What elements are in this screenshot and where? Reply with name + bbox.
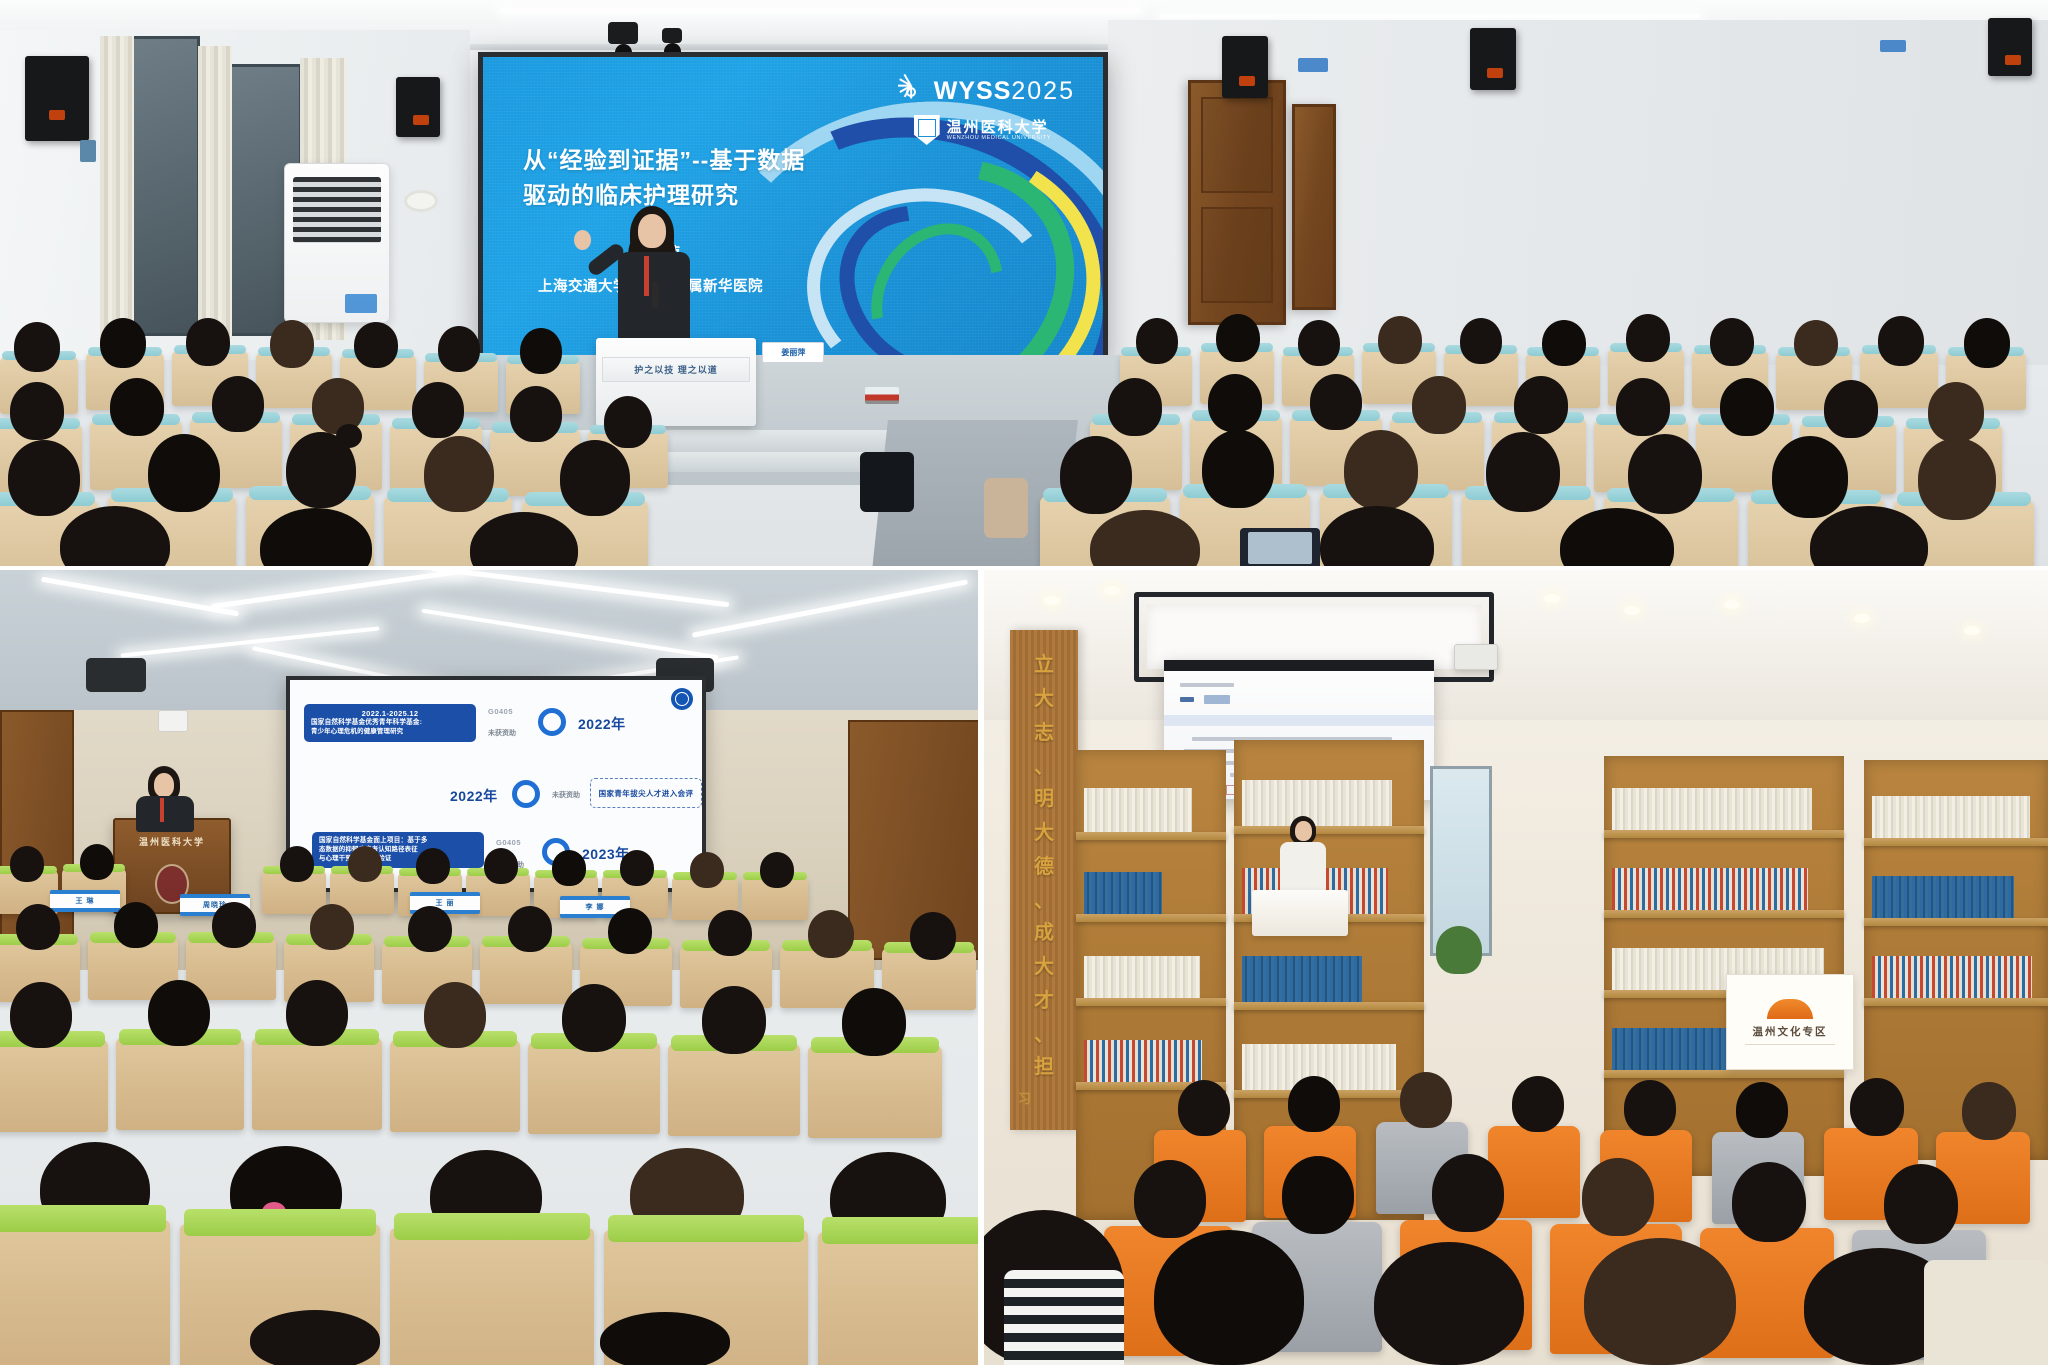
audience-head (760, 852, 794, 888)
audience-head (286, 980, 348, 1046)
seat (668, 1044, 800, 1136)
wall-fixture (404, 190, 438, 212)
audience-head (110, 378, 164, 436)
wooden-door (1188, 80, 1286, 325)
wooden-door-side (1292, 104, 1336, 310)
motto-char: 才 (1010, 984, 1078, 1013)
books (1242, 956, 1362, 1002)
timeline-code-3: G0405 (496, 838, 521, 847)
wyss-sunburst-icon (898, 78, 925, 105)
air-conditioner (284, 163, 390, 323)
wall-speaker-icon (396, 77, 440, 137)
ceiling-camera-icon (662, 28, 682, 43)
top-photo-lecture-hall: WYSS2025 温州医科大学 WENZHOU MEDICAL UNIVERSI… (0, 0, 2048, 568)
motto-char: 德 (1010, 850, 1078, 879)
hair-bun (336, 424, 362, 448)
audience-head (1288, 1076, 1340, 1132)
motto-char: 明 (1010, 782, 1078, 811)
podium-name-card: 姜丽萍 (762, 342, 824, 363)
bottom-left-photo-lecture-room: 2022.1-2025.12 国家自然科学基金优秀青年科学基金: 青少年心理危机… (0, 570, 980, 1365)
timeline-badge-3: 国家自然科学基金面上项目：基于多 态数据的抑郁症患者认知路径表征 与心理干预推荐… (312, 832, 484, 868)
books (1872, 956, 2032, 998)
lectern (1252, 890, 1348, 936)
shelf (1604, 910, 1844, 918)
doc-subheader (1180, 697, 1194, 702)
motto-char: 、 (1010, 1018, 1078, 1047)
lanyard (644, 256, 649, 296)
books (1612, 868, 1808, 910)
audience-head (1136, 318, 1178, 364)
bag-icon (860, 452, 914, 512)
audience-head (270, 320, 314, 368)
audience-head (702, 986, 766, 1054)
university-name-en: WENZHOU MEDICAL UNIVERSITY (947, 135, 1051, 141)
downlight-icon (1624, 606, 1640, 615)
audience-head-foreground (1374, 1242, 1524, 1365)
audience-head (1178, 1080, 1230, 1136)
audience-head (148, 434, 220, 512)
audience-head (80, 844, 114, 880)
plant-icon (1436, 926, 1482, 974)
books (1084, 956, 1200, 998)
audience-head (1918, 438, 1996, 520)
motto-char: 大 (1010, 682, 1078, 711)
seat (0, 1220, 170, 1365)
presenter-head (638, 214, 666, 248)
audience-head (1216, 314, 1260, 362)
audience-head (1282, 1156, 1354, 1234)
audience-head (552, 850, 586, 886)
timeline-ring-2 (512, 780, 540, 808)
university-seal-icon (671, 688, 693, 710)
photo-collage: WYSS2025 温州医科大学 WENZHOU MEDICAL UNIVERSI… (0, 0, 2048, 1365)
audience-head (1928, 382, 1984, 442)
audience-head (438, 326, 480, 372)
audience-head (620, 850, 654, 886)
audience-head (1432, 1154, 1504, 1232)
audience-head (1850, 1078, 1904, 1136)
microphone-icon (652, 282, 659, 308)
audience-head (348, 846, 382, 882)
shelf (1864, 998, 2048, 1006)
motto-char: 、 (1010, 750, 1078, 779)
presenter (126, 766, 206, 828)
university-logo: 温州医科大学 WENZHOU MEDICAL UNIVERSITY (914, 115, 1051, 145)
audience-head (424, 436, 494, 512)
downlight-icon (1854, 614, 1870, 623)
striped-clothing (1004, 1270, 1124, 1365)
wyss-logo-text: WYSS2025 (934, 77, 1075, 106)
audience-head (1134, 1160, 1206, 1238)
window (128, 36, 200, 336)
timeline-year-2: 2022年 (450, 786, 498, 806)
led-presentation-screen: WYSS2025 温州医科大学 WENZHOU MEDICAL UNIVERSI… (478, 52, 1108, 360)
books (1084, 872, 1162, 914)
shelf (1076, 914, 1226, 922)
downlight-icon (1964, 626, 1980, 635)
doc-header-line (1180, 683, 1234, 687)
audience-head (1732, 1162, 1806, 1242)
downlight-icon (1544, 594, 1560, 603)
timeline-code-1: G0405 (488, 707, 513, 716)
audience-head (808, 910, 854, 958)
shelf (1864, 838, 2048, 846)
audience-head (1310, 374, 1362, 430)
ceiling-light-strip (1160, 14, 1700, 18)
audience-head (560, 440, 630, 516)
downlight-icon (1044, 596, 1060, 605)
audience-head (1400, 1072, 1452, 1128)
seat (390, 1228, 594, 1365)
curtain (100, 36, 134, 336)
audience-head (842, 988, 906, 1056)
wall-speaker-icon (1470, 28, 1516, 90)
ceiling-projector-icon (608, 22, 638, 44)
books (1612, 788, 1812, 830)
flower-arrangement (865, 387, 899, 404)
desk-nameplate: 王 琳 (50, 890, 120, 912)
podium-university-name: 温州医科大学 (115, 835, 229, 848)
audience-head (1624, 1080, 1676, 1136)
audience-head (10, 982, 72, 1048)
audience-head (14, 322, 60, 372)
seat (252, 1038, 382, 1130)
laptop-screen (1248, 532, 1312, 564)
audience-head (186, 318, 230, 366)
audience-head (608, 908, 652, 954)
culture-logo-icon (1767, 999, 1813, 1019)
audience-head (412, 382, 464, 438)
seat (528, 1042, 660, 1134)
culture-zone-sign: 温州文化专区 (1726, 974, 1854, 1070)
audience-head (1720, 378, 1774, 436)
audience-head (1344, 430, 1418, 510)
audience-head (1108, 378, 1162, 436)
timeline-year-1: 2022年 (578, 714, 626, 734)
seat (390, 1040, 520, 1132)
timeline-badge-1: 2022.1-2025.12 国家自然科学基金优秀青年科学基金: 青少年心理危机… (304, 704, 476, 742)
presenter-hand (574, 230, 591, 250)
presenter-head (1295, 821, 1312, 841)
wall-speaker-icon (1222, 36, 1268, 98)
ceiling-light-strip (500, 8, 1140, 13)
audience-head-foreground (1584, 1238, 1736, 1365)
motto-char: 大 (1010, 950, 1078, 979)
seat (0, 1040, 108, 1132)
audience-head (1514, 376, 1568, 434)
ceiling-projector-icon (1454, 644, 1498, 670)
audience-head (520, 328, 562, 374)
curtain (198, 46, 232, 338)
audience-head (310, 904, 354, 950)
audience-head (910, 912, 956, 960)
camera-icon (158, 710, 188, 732)
motto-pillar: 立 大 志 、 明 大 德 、 成 大 才 、 担 习 (1010, 630, 1078, 1130)
books (1084, 788, 1192, 832)
audience-head (212, 376, 264, 432)
motto-char: 志 (1010, 716, 1078, 745)
downlight-icon (1724, 600, 1740, 609)
presenter-body (136, 796, 194, 832)
audience-head (1512, 1076, 1564, 1132)
bag-icon (984, 478, 1028, 538)
shelf (1234, 1002, 1424, 1010)
culture-sign-text: 温州文化专区 (1753, 1024, 1828, 1039)
shelf (1604, 1070, 1844, 1078)
audience-head (10, 846, 44, 882)
audience-head (1628, 434, 1702, 514)
audience-head (1298, 320, 1340, 366)
audience-head (1582, 1158, 1654, 1236)
shelf (1864, 918, 2048, 926)
clothing (1924, 1260, 2048, 1365)
timeline-status-2: 未获资助 (552, 790, 580, 800)
audience-head (1962, 1082, 2016, 1140)
downlight-icon (1104, 586, 1120, 595)
motto-char: 大 (1010, 816, 1078, 845)
wyss-logo: WYSS2025 (898, 77, 1075, 106)
audience-head (8, 440, 80, 516)
books (1872, 796, 2030, 838)
audience-head (424, 982, 486, 1048)
exit-sign-icon (1880, 40, 1906, 52)
shelf (1076, 832, 1226, 840)
ac-badge (345, 294, 376, 313)
shelf (1604, 830, 1844, 838)
wall-speaker-icon (1988, 18, 2032, 76)
audience-head (148, 980, 210, 1046)
motto-char: 担 (1010, 1050, 1078, 1079)
audience-head (416, 848, 450, 884)
motto-signature: 习 (1018, 1088, 1031, 1107)
audience-head (1794, 320, 1838, 366)
audience-head (1616, 378, 1670, 436)
audience-head (114, 902, 158, 948)
audience-head (1878, 316, 1924, 366)
shelf (1076, 998, 1226, 1006)
audience-head (1412, 376, 1466, 434)
ceiling-projector-icon (86, 658, 146, 692)
audience-head (354, 322, 398, 368)
books (1872, 876, 2014, 918)
presenter-head (154, 773, 174, 797)
university-shield-icon (914, 115, 940, 145)
audience-head (1884, 1164, 1958, 1244)
audience-head (100, 318, 146, 368)
audience-head (1824, 380, 1878, 438)
audience-head (708, 910, 752, 956)
audience-head-foreground (250, 1310, 380, 1365)
audience-head (10, 382, 64, 440)
ac-grille (293, 177, 380, 243)
doc-band (1164, 715, 1434, 726)
seat (818, 1232, 980, 1365)
podium-motto: 护之以技 理之以道 (602, 357, 749, 382)
audience-head (1626, 314, 1670, 362)
bottom-right-photo-library: 立 大 志 、 明 大 德 、 成 大 才 、 担 习 (984, 570, 2048, 1365)
speaker-mount (80, 140, 96, 162)
audience-head (1378, 316, 1422, 364)
audience-head (408, 906, 452, 952)
audience-head (562, 984, 626, 1052)
motto-char: 立 (1010, 648, 1078, 677)
culture-sign-divider (1745, 1044, 1836, 1045)
lanyard (160, 798, 164, 822)
seat (116, 1038, 244, 1130)
audience-head (1208, 374, 1262, 432)
timeline-note-2: 国家青年拔尖人才进入会评 (590, 778, 702, 808)
audience-head (1486, 432, 1560, 512)
audience-head (1460, 318, 1502, 364)
books (1084, 1040, 1202, 1082)
audience-head (280, 846, 314, 882)
audience-head-foreground (1154, 1230, 1304, 1365)
seat (808, 1046, 942, 1138)
motto-char: 、 (1010, 884, 1078, 913)
audience-head (212, 902, 256, 948)
audience-head (508, 906, 552, 952)
audience-head (690, 852, 724, 888)
audience-head (1772, 436, 1848, 518)
motto-char: 成 (1010, 916, 1078, 945)
audience-head (604, 396, 652, 448)
audience-head (510, 386, 562, 442)
audience-head (1710, 318, 1754, 366)
audience-head-foreground (600, 1312, 730, 1365)
presenter (600, 200, 720, 350)
audience-head (1964, 318, 2010, 368)
audience-head (1542, 320, 1586, 366)
university-name-cn: 温州医科大学 (947, 120, 1051, 135)
audience-head (16, 904, 60, 950)
audience-head (1736, 1082, 1788, 1138)
wall-speaker-icon (25, 56, 89, 141)
timeline-status-1: 未获资助 (488, 728, 516, 738)
doc-subheader (1204, 695, 1230, 704)
audience-head (1202, 430, 1274, 508)
audience-head (1060, 436, 1132, 514)
timeline-ring-1 (538, 708, 566, 736)
exit-sign-icon (1298, 58, 1328, 72)
audience-head (484, 848, 518, 884)
